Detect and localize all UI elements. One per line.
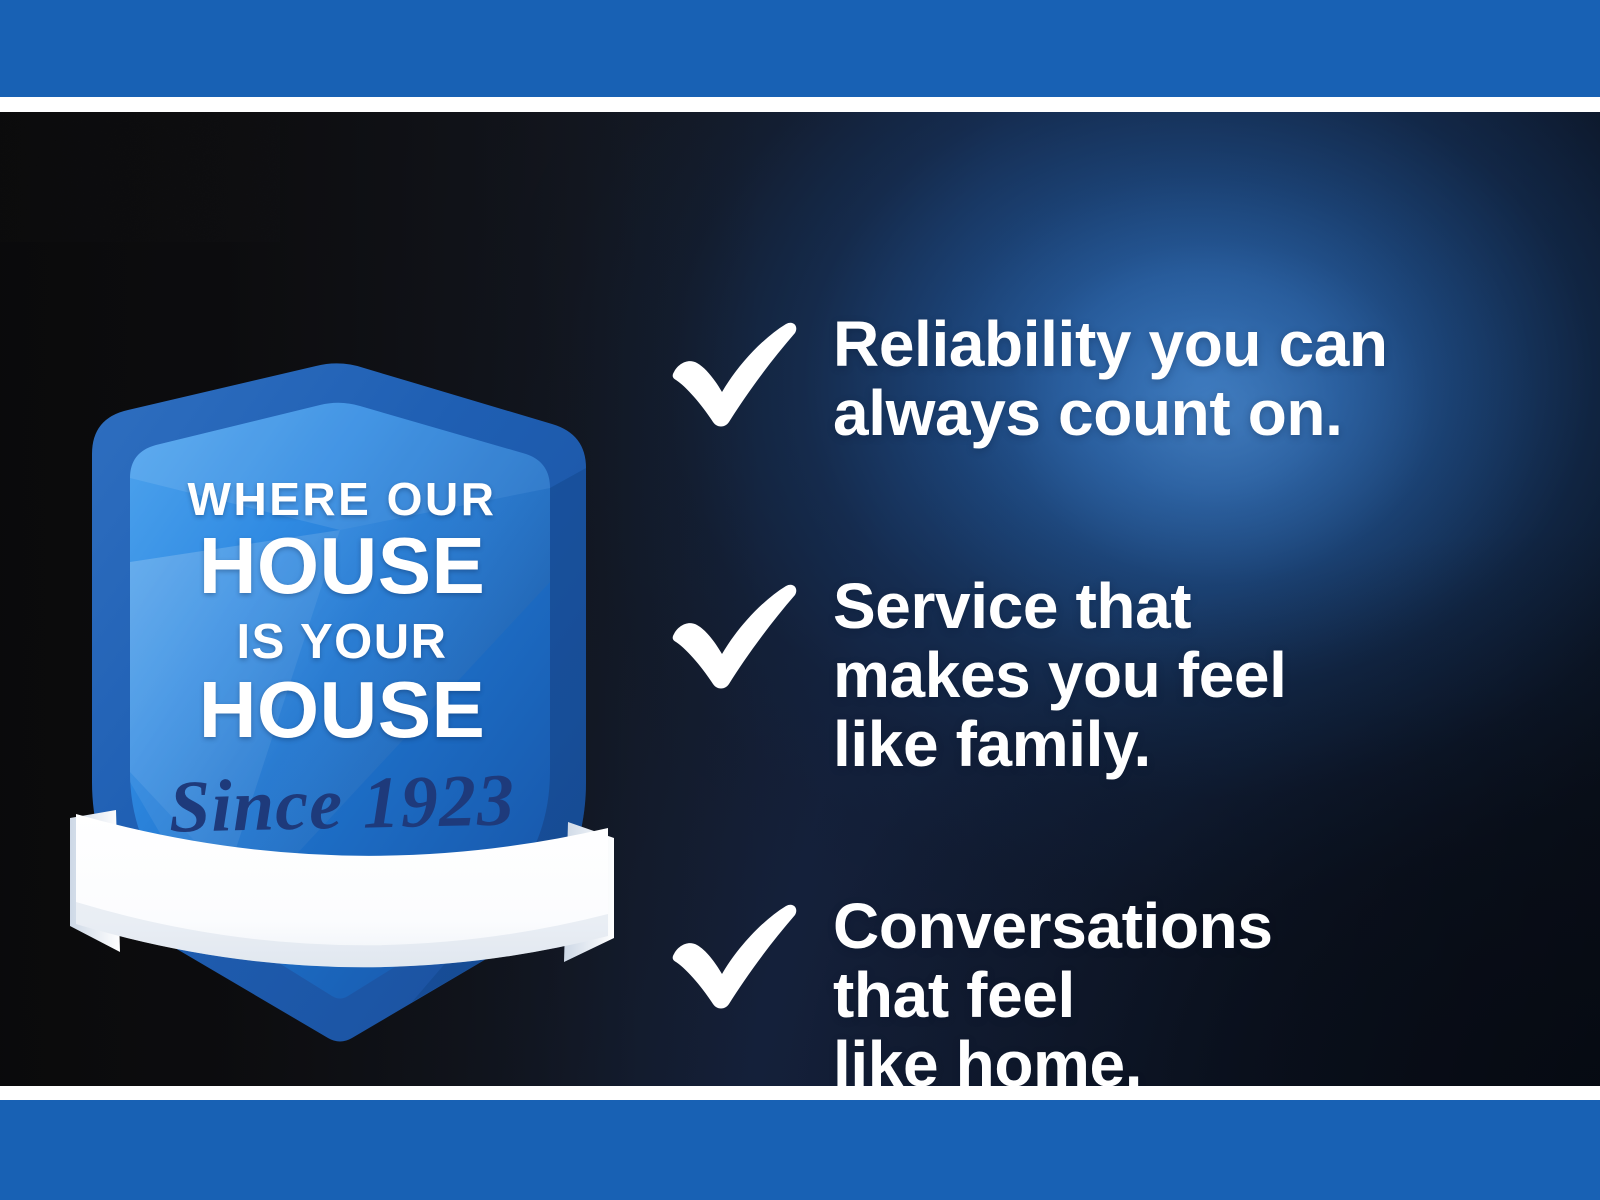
checkmark-icon xyxy=(668,580,800,690)
checkmark-icon xyxy=(668,900,800,1010)
main-panel: WHERE OUR HOUSE IS YOUR HOUSE Since 1923… xyxy=(0,112,1600,1086)
checkmark-icon xyxy=(668,318,800,428)
shield-badge-icon xyxy=(52,262,632,1062)
shield-logo: WHERE OUR HOUSE IS YOUR HOUSE Since 1923 xyxy=(52,262,632,1062)
bottom-brand-bar xyxy=(0,1100,1600,1200)
film-grain-texture xyxy=(0,112,280,242)
promo-graphic: WHERE OUR HOUSE IS YOUR HOUSE Since 1923… xyxy=(0,0,1600,1200)
benefit-text-3: Conversations that feel like home. xyxy=(833,892,1533,1086)
benefit-text-2: Service that makes you feel like family. xyxy=(833,572,1533,779)
benefit-text-1: Reliability you can always count on. xyxy=(833,310,1533,448)
top-brand-bar xyxy=(0,0,1600,97)
